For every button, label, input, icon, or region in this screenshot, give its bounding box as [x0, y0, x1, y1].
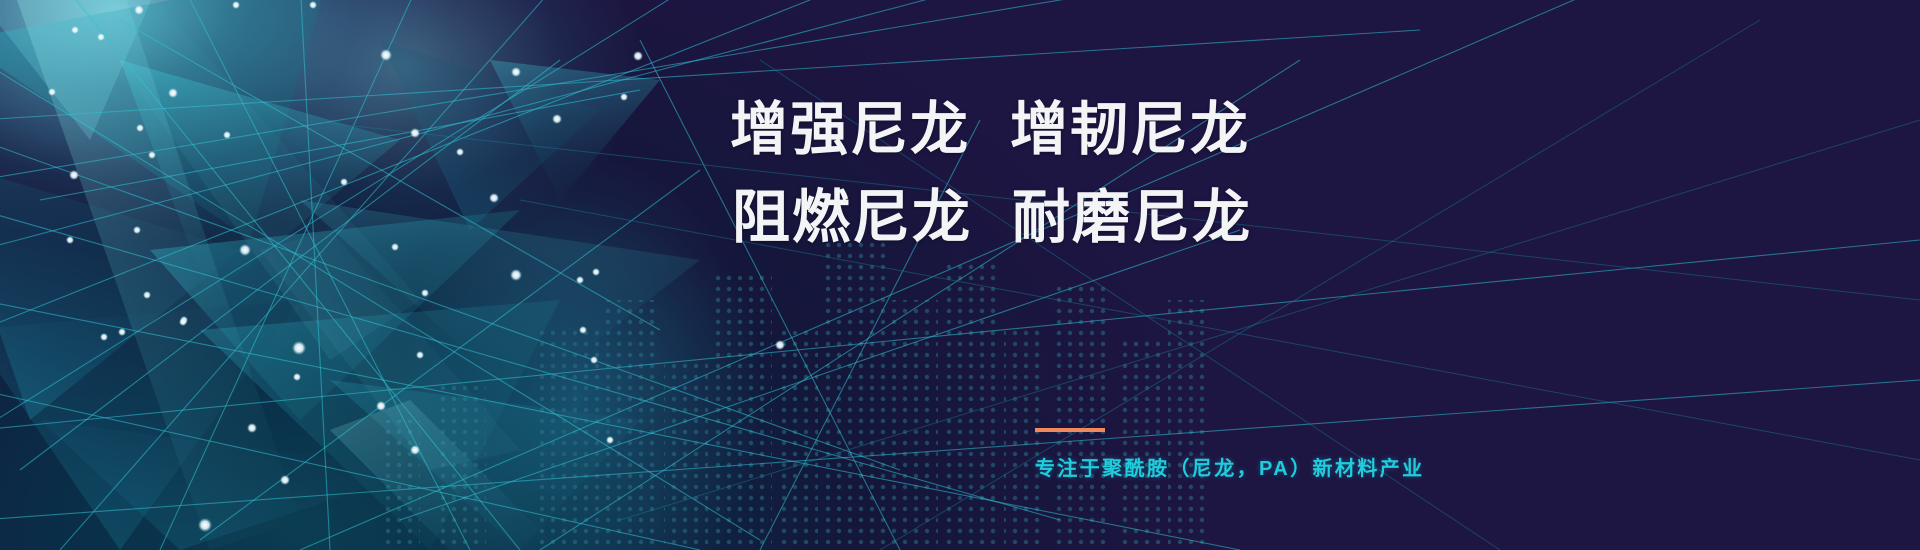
headline-line2-part2: 耐磨尼龙: [1012, 185, 1252, 250]
tagline-block: 专注于聚酰胺（尼龙，PA）新材料产业: [1035, 428, 1735, 481]
tagline-text: 专注于聚酰胺（尼龙，PA）新材料产业: [1035, 452, 1735, 481]
headline-line-1: 增强尼龙增韧尼龙: [730, 86, 1490, 174]
headline-line2-part1: 阻燃尼龙: [732, 185, 972, 250]
headline-line1-part1: 增强尼龙: [730, 97, 970, 162]
headline-block: 增强尼龙增韧尼龙 阻燃尼龙耐磨尼龙: [730, 86, 1490, 262]
tagline-divider: [1035, 428, 1105, 432]
headline-line1-part2: 增韧尼龙: [1010, 97, 1250, 162]
headline-line-2: 阻燃尼龙耐磨尼龙: [730, 174, 1490, 262]
hero-banner: 增强尼龙增韧尼龙 阻燃尼龙耐磨尼龙 专注于聚酰胺（尼龙，PA）新材料产业: [0, 0, 1920, 550]
